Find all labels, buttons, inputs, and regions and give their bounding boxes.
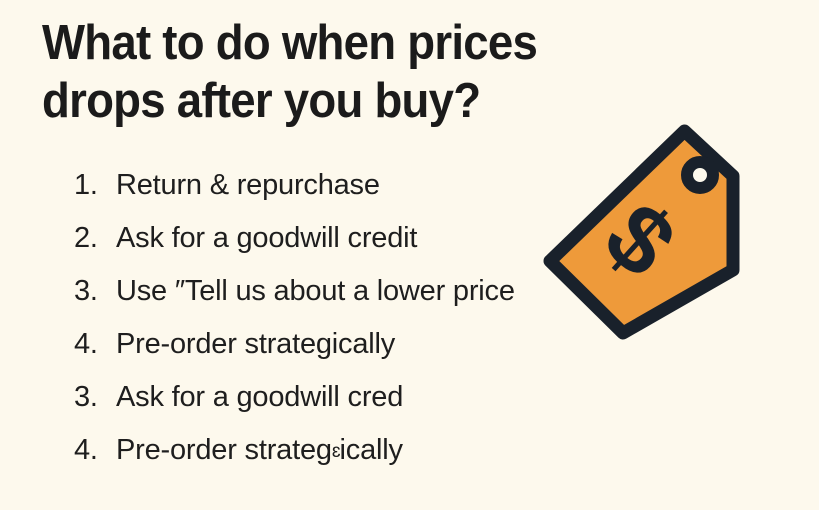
- list-item-label: Ask for a goodwill credit: [116, 221, 417, 255]
- tag-eyelet-hole: [687, 162, 713, 188]
- price-tag-icon: $: [528, 118, 754, 346]
- list-item-label: Use ″Tell us about a lower price: [116, 274, 515, 308]
- list-item-number: 4.: [74, 433, 116, 467]
- list-item-number: 4.: [74, 327, 116, 361]
- list-item: 4. Pre-order strategɛically: [74, 433, 614, 486]
- slide-canvas: What to do when prices drops after you b…: [0, 0, 819, 510]
- list-item-number: 3.: [74, 380, 116, 414]
- list-item-label: Ask for a goodwill cred: [116, 380, 403, 414]
- list-item-label-tail: ically: [340, 433, 403, 467]
- list-item-number: 3.: [74, 274, 116, 308]
- list-item-number: 1.: [74, 168, 116, 202]
- list-item-label: Return & repurchase: [116, 168, 380, 202]
- page-title: What to do when prices drops after you b…: [42, 14, 637, 130]
- page-title-text: What to do when prices drops after you b…: [42, 16, 537, 128]
- list-item-label: Pre-order strategically: [116, 327, 395, 361]
- glyph-artifact: ɛ: [332, 435, 340, 469]
- list-item-label: Pre-order strateg: [116, 433, 332, 467]
- list-item: 3. Ask for a goodwill cred: [74, 380, 614, 433]
- list-item-number: 2.: [74, 221, 116, 255]
